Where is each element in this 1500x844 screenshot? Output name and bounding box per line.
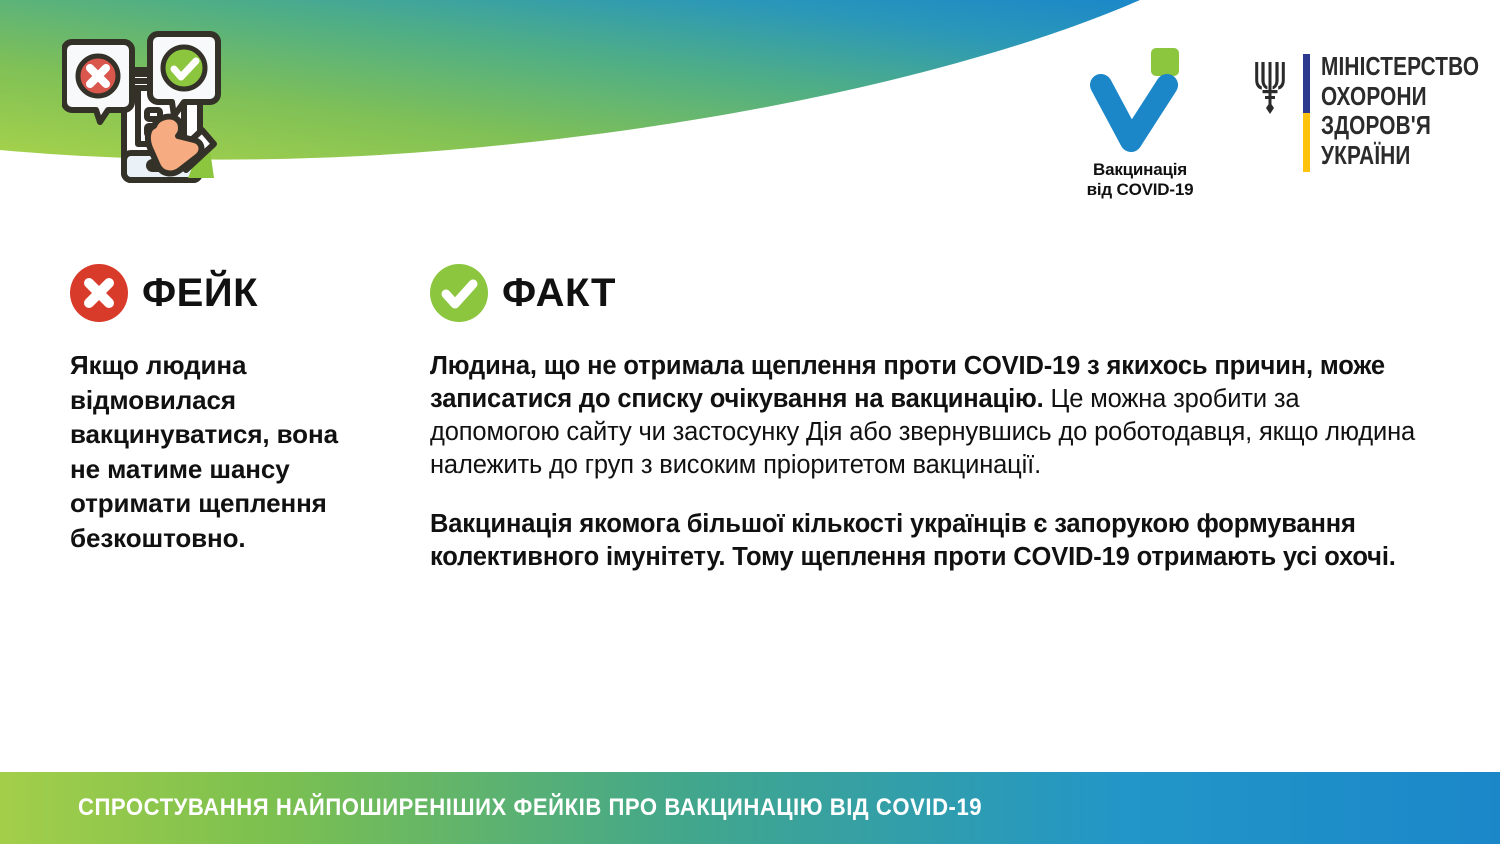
vaccination-caption-line2: від COVID-19 bbox=[1065, 180, 1215, 200]
fake-column: ФЕЙК Якщо людина відмовилася вакцинувати… bbox=[70, 262, 430, 555]
ministry-line-4: УКРАЇНИ bbox=[1321, 141, 1479, 171]
fact-text: Людина, що не отримала щеплення проти CO… bbox=[430, 350, 1430, 575]
check-circle-icon bbox=[430, 264, 488, 322]
vaccination-v-mark bbox=[1065, 48, 1215, 153]
ministry-line-2: ОХОРОНИ bbox=[1321, 82, 1479, 112]
footer-banner: СПРОСТУВАННЯ НАЙПОШИРЕНІШИХ ФЕЙКІВ ПРО В… bbox=[0, 772, 1500, 844]
fact-column: ФАКТ Людина, що не отримала щеплення про… bbox=[430, 262, 1430, 600]
ministry-line-3: ЗДОРОВ'Я bbox=[1321, 111, 1479, 141]
ministry-of-health-logo: МІНІСТЕРСТВО ОХОРОНИ ЗДОРОВ'Я УКРАЇНИ bbox=[1248, 52, 1500, 172]
slide-root: Вакцинація від COVID-19 МІНІСТЕРСТВО ОХО… bbox=[0, 0, 1500, 844]
x-circle-icon bbox=[70, 264, 128, 322]
vaccination-logo: Вакцинація від COVID-19 bbox=[1065, 48, 1215, 200]
ministry-line-1: МІНІСТЕРСТВО bbox=[1321, 52, 1479, 82]
ministry-name: МІНІСТЕРСТВО ОХОРОНИ ЗДОРОВ'Я УКРАЇНИ bbox=[1321, 52, 1479, 171]
tablet-form-illustration bbox=[62, 28, 252, 196]
fake-heading-row: ФЕЙК bbox=[70, 262, 430, 324]
flag-divider-bar bbox=[1303, 54, 1310, 172]
vaccination-caption-line1: Вакцинація bbox=[1065, 160, 1215, 180]
green-dot-icon bbox=[1151, 48, 1179, 76]
ukraine-trident-icon bbox=[1248, 58, 1292, 114]
fact-paragraph-1: Людина, що не отримала щеплення проти CO… bbox=[430, 350, 1430, 483]
footer-banner-text: СПРОСТУВАННЯ НАЙПОШИРЕНІШИХ ФЕЙКІВ ПРО В… bbox=[78, 794, 982, 822]
content-columns: ФЕЙК Якщо людина відмовилася вакцинувати… bbox=[70, 262, 1430, 600]
vaccination-logo-caption: Вакцинація від COVID-19 bbox=[1065, 160, 1215, 200]
fake-heading: ФЕЙК bbox=[142, 273, 258, 313]
fake-text: Якщо людина відмовилася вакцинуватися, в… bbox=[70, 348, 360, 555]
fact-paragraph-2: Вакцинація якомога більшої кількості укр… bbox=[430, 508, 1430, 574]
fact-heading: ФАКТ bbox=[502, 273, 616, 313]
fact-heading-row: ФАКТ bbox=[430, 262, 1430, 324]
